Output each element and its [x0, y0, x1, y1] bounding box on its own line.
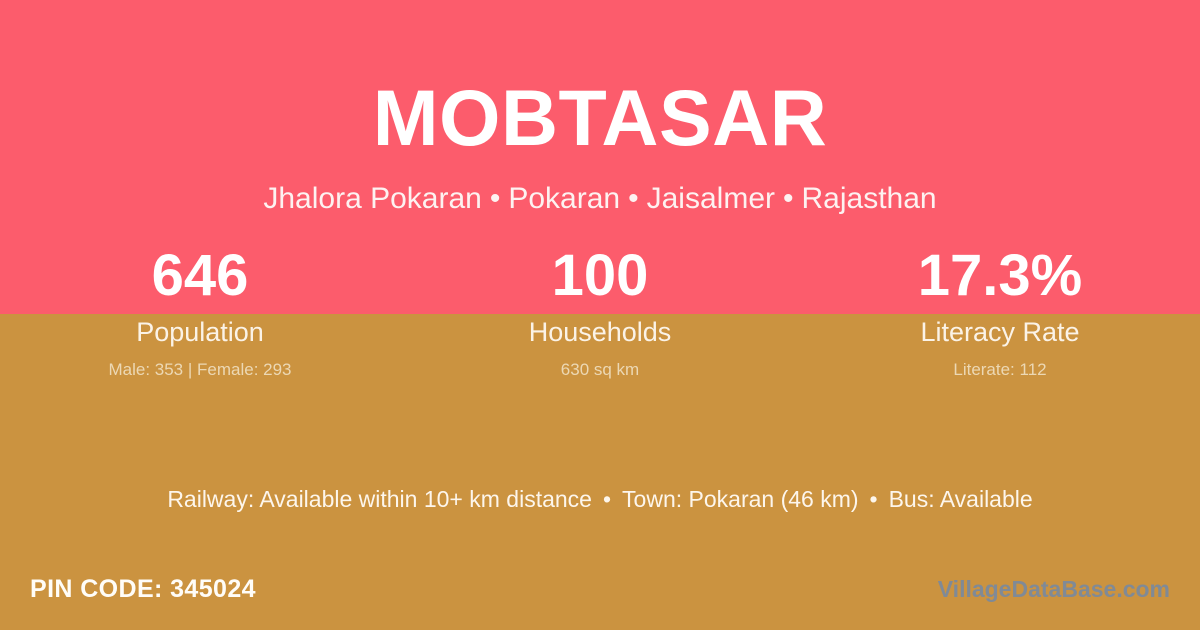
breadcrumb-separator: •	[482, 182, 509, 215]
amenity-railway: Railway: Available within 10+ km distanc…	[167, 486, 592, 512]
stat-label: Households	[400, 316, 800, 348]
breadcrumb-separator: •	[775, 182, 802, 215]
stat-value: 646	[0, 246, 400, 307]
breadcrumb-item-village: Jhalora Pokaran	[263, 182, 481, 215]
amenity-separator: •	[859, 486, 889, 512]
stat-households: 100 Households 630 sq km	[400, 246, 800, 381]
stat-value: 17.3%	[800, 246, 1200, 307]
stat-sublabel: Male: 353 | Female: 293	[0, 360, 400, 380]
stat-value: 100	[400, 246, 800, 307]
amenity-separator: •	[592, 486, 622, 512]
breadcrumb-item-state: Rajasthan	[802, 182, 937, 215]
breadcrumb-separator: •	[620, 182, 647, 215]
page-title: MOBTASAR	[0, 78, 1200, 157]
stat-population: 646 Population Male: 353 | Female: 293	[0, 246, 400, 381]
stat-sublabel: Literate: 112	[800, 360, 1200, 380]
village-info-card: MOBTASAR Jhalora Pokaran•Pokaran•Jaisalm…	[0, 0, 1200, 630]
stat-label: Population	[0, 316, 400, 348]
amenities-line: Railway: Available within 10+ km distanc…	[0, 485, 1200, 515]
stats-row: 646 Population Male: 353 | Female: 293 1…	[0, 246, 1200, 381]
pin-code: PIN CODE: 345024	[30, 574, 256, 604]
breadcrumb: Jhalora Pokaran•Pokaran•Jaisalmer•Rajast…	[0, 180, 1200, 218]
amenity-bus: Bus: Available	[889, 486, 1033, 512]
brand-logo: VillageDataBase.com	[938, 576, 1170, 604]
stat-label: Literacy Rate	[800, 316, 1200, 348]
breadcrumb-item-block: Pokaran	[508, 182, 620, 215]
stat-sublabel: 630 sq km	[400, 360, 800, 380]
breadcrumb-item-district: Jaisalmer	[647, 182, 775, 215]
stat-literacy-rate: 17.3% Literacy Rate Literate: 112	[800, 246, 1200, 381]
footer: PIN CODE: 345024 VillageDataBase.com	[0, 570, 1200, 614]
amenity-town: Town: Pokaran (46 km)	[622, 486, 858, 512]
